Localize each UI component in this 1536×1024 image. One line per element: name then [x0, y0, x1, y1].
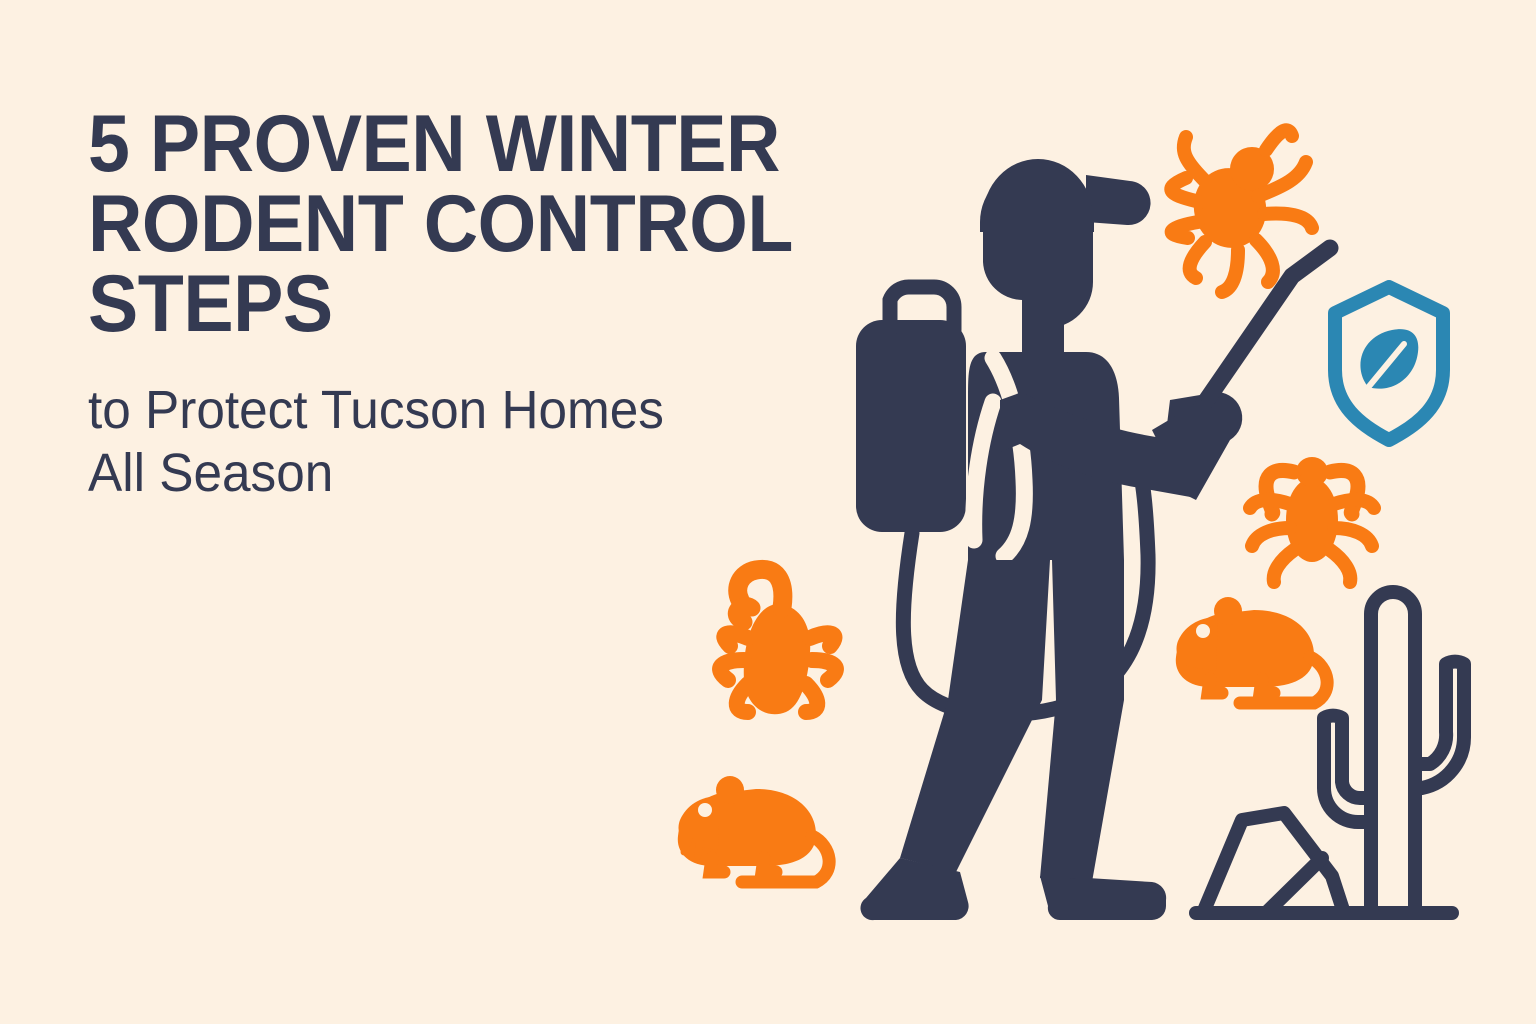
mouse-right-eye — [1196, 624, 1210, 638]
cactus-arm-right — [1415, 662, 1464, 788]
scorpion-icon — [720, 569, 836, 714]
mouse-icon-right — [1176, 597, 1327, 703]
technician-boot-front-toe — [1052, 878, 1166, 920]
hero-text-block: 5 PROVEN WINTER RODENT CONTROL STEPS to … — [88, 104, 858, 506]
technician-cap-crown — [980, 166, 1094, 232]
hero-banner: 5 PROVEN WINTER RODENT CONTROL STEPS to … — [0, 0, 1536, 1024]
mouse-left-ear — [716, 776, 744, 804]
rock-facet — [1266, 858, 1322, 913]
scorpion-claw-left — [736, 606, 752, 622]
page-subtitle: to Protect Tucson Homes All Season — [88, 345, 820, 506]
shield-leaf-icon — [1335, 287, 1443, 440]
technician-leg-front — [1040, 560, 1124, 882]
sprayer-tank — [856, 320, 966, 532]
cactus-arm-left — [1324, 716, 1371, 822]
saguaro-cactus-icon — [1324, 592, 1464, 913]
page-title: 5 PROVEN WINTER RODENT CONTROL STEPS — [88, 104, 804, 345]
mouse-right-ear — [1214, 597, 1242, 625]
cactus-trunk — [1371, 592, 1415, 913]
technician-cap-brim — [1086, 175, 1151, 225]
mouse-icon-left — [678, 776, 829, 882]
technician-leg-back — [900, 560, 1050, 872]
tick-icon — [1250, 457, 1374, 582]
mouse-left-eye — [698, 803, 712, 817]
technician-neck — [1022, 300, 1064, 352]
scorpion-body — [744, 604, 810, 714]
desert-rock-icon — [1203, 813, 1344, 913]
